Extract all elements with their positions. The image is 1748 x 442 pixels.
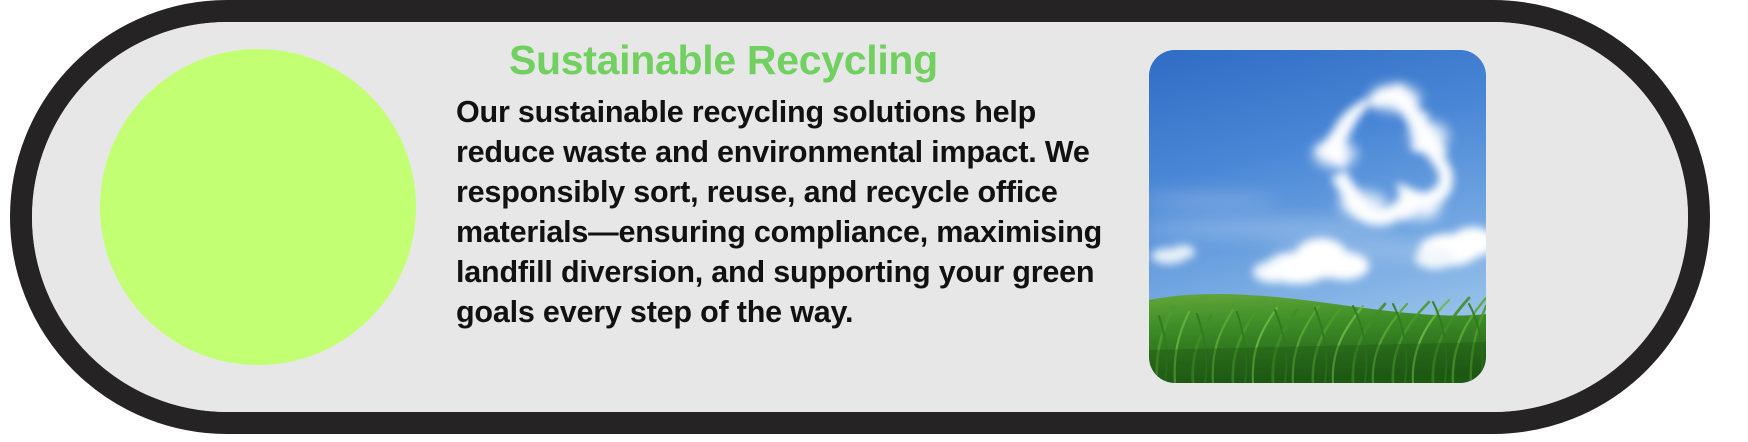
text-column: Sustainable Recycling Our sustainable re…	[447, 34, 1112, 332]
sustainable-recycling-card: Sustainable Recycling Our sustainable re…	[0, 0, 1748, 442]
page-title: Sustainable Recycling	[447, 34, 1112, 86]
recycling-clouds-photo	[1149, 50, 1486, 383]
card-body-text: Our sustainable recycling solutions help…	[447, 86, 1112, 332]
photo-illustration	[1149, 50, 1486, 383]
circle-badge-icon	[100, 49, 416, 365]
pill-frame: Sustainable Recycling Our sustainable re…	[10, 0, 1710, 434]
